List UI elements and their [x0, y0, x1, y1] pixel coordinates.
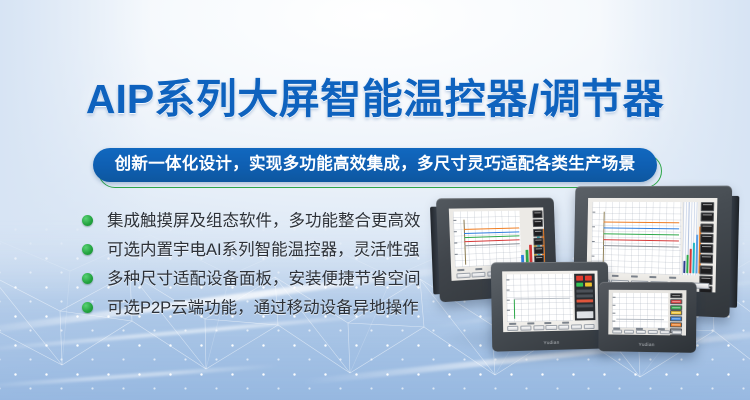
- screen-button-row: [612, 330, 682, 335]
- product-banner: AIP系列大屏智能温控器/调节器 创新一体化设计，实现多功能高效集成，多尺寸灵巧…: [0, 0, 750, 400]
- bullet-dot-icon: [82, 302, 93, 313]
- feature-list: 集成触摸屏及组态软件，多功能整合更高效 可选内置宇电AI系列智能温控器，灵活性强…: [82, 206, 421, 322]
- feature-item: 可选内置宇电AI系列智能温控器，灵活性强: [82, 235, 421, 264]
- readout-footer: [577, 311, 594, 318]
- readout-value-red: [585, 276, 592, 281]
- bullet-dot-icon: [82, 273, 93, 284]
- subtitle-pill-box: 创新一体化设计，实现多功能高效集成，多尺寸灵巧适配各类生产场景: [93, 148, 658, 182]
- front-hmi-touch-panel: Yudian: [491, 262, 610, 352]
- device-brand-logo: Yudian: [544, 340, 560, 345]
- trend-chart-plot: [506, 274, 573, 322]
- readout-value-red: [576, 276, 583, 281]
- subtitle-pill-wrapper: 创新一体化设计，实现多功能高效集成，多尺寸灵巧适配各类生产场景: [0, 148, 750, 182]
- feature-item-label: 多种尺寸适配设备面板，安装便捷节省空间: [107, 269, 421, 289]
- device-brand-logo: Yudian: [639, 342, 655, 347]
- small-hmi-touch-panel: Yudian: [598, 282, 696, 353]
- light-ribbon-5: [0, 364, 280, 389]
- headline-cjk-part: 系列大屏智能温控器/调节器: [154, 76, 664, 122]
- subtitle-pill: 创新一体化设计，实现多功能高效集成，多尺寸灵巧适配各类生产场景: [93, 148, 658, 182]
- device-screen: [502, 271, 598, 333]
- trend-chart-plot: [453, 211, 521, 268]
- readout-row: [576, 294, 593, 297]
- readout-value-green: [576, 283, 583, 287]
- feature-item: 集成触摸屏及组态软件，多功能整合更高效: [82, 206, 421, 235]
- bar-graph-panel: [682, 202, 698, 275]
- feature-item-label: 集成触摸屏及组态软件，多功能整合更高效: [107, 211, 421, 231]
- readout-value-yellow: [585, 283, 592, 287]
- product-device-cluster: Yudian: [432, 186, 750, 372]
- left-edge-gradient: [0, 0, 150, 400]
- device-screen: [608, 290, 686, 336]
- feature-item: 多种尺寸适配设备面板，安装便捷节省空间: [82, 264, 421, 293]
- readout-row: [577, 299, 594, 302]
- trend-chart-plot: [612, 293, 668, 328]
- bullet-dot-icon: [82, 215, 93, 226]
- feature-item-label: 可选P2P云端功能，通过移动设备异地操作: [107, 298, 419, 318]
- feature-item: 可选P2P云端功能，通过移动设备异地操作: [82, 293, 421, 322]
- headline-latin-part: AIP: [86, 76, 154, 122]
- screen-button-row: [507, 324, 594, 331]
- chart-grid-horizontal: [612, 293, 668, 328]
- feature-item-label: 可选内置宇电AI系列智能温控器，灵活性强: [107, 240, 420, 260]
- bullet-dot-icon: [82, 244, 93, 255]
- readout-row: [576, 289, 593, 292]
- digital-readout-tags: [699, 202, 714, 292]
- banner-headline: AIP系列大屏智能温控器/调节器: [0, 74, 750, 124]
- digital-readout-panel: [574, 274, 595, 321]
- readout-row: [577, 304, 594, 307]
- legend-color-swatches: [670, 293, 683, 335]
